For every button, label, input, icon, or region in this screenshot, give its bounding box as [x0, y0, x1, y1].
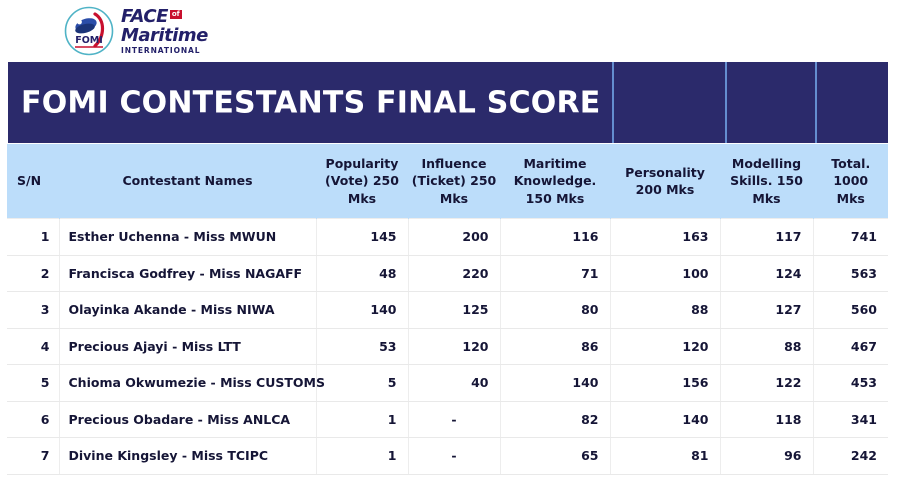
cell-popularity: 53 [316, 328, 408, 365]
cell-total: 560 [813, 292, 888, 329]
cell-maritime: 65 [500, 438, 610, 475]
banner-separator-3 [815, 62, 817, 143]
header-line: Mks [317, 190, 408, 207]
header-line: (Vote) 250 [317, 172, 408, 189]
cell-maritime: 86 [500, 328, 610, 365]
cell-total: 242 [813, 438, 888, 475]
cell-popularity: 1 [316, 401, 408, 438]
column-header-influence: Influence (Ticket) 250 Mks [408, 144, 500, 219]
header-line: Maritime [501, 155, 610, 172]
logo-band: FOMI FACE of Maritime INTERNATIONAL [0, 0, 898, 62]
header-line: Influence [409, 155, 500, 172]
cell-name: Divine Kingsley - Miss TCIPC [59, 438, 316, 475]
banner-separator-1 [612, 62, 614, 143]
table-row: 5Chioma Okwumezie - Miss CUSTOMS54014015… [7, 365, 888, 402]
wordmark-maritime: Maritime [121, 27, 208, 45]
cell-influence: 40 [408, 365, 500, 402]
cell-popularity: 145 [316, 219, 408, 256]
cell-maritime: 82 [500, 401, 610, 438]
cell-modelling: 88 [720, 328, 813, 365]
scores-table: S/N Contestant Names Popularity (Vote) 2… [7, 144, 888, 475]
column-header-maritime: Maritime Knowledge. 150 Mks [500, 144, 610, 219]
cell-sn: 6 [7, 401, 59, 438]
cell-total: 467 [813, 328, 888, 365]
header-line: Mks [814, 190, 889, 207]
header-line: Personality [611, 164, 720, 181]
header-line: Total. [814, 155, 889, 172]
cell-popularity: 5 [316, 365, 408, 402]
cell-maritime: 140 [500, 365, 610, 402]
cell-sn: 5 [7, 365, 59, 402]
title-banner: FOMI CONTESTANTS FINAL SCORE [8, 62, 888, 143]
cell-sn: 4 [7, 328, 59, 365]
cell-total: 741 [813, 219, 888, 256]
table-row: 4Precious Ajayi - Miss LTT53120861208846… [7, 328, 888, 365]
table-row: 3Olayinka Akande - Miss NIWA140125808812… [7, 292, 888, 329]
table-row: 6Precious Obadare - Miss ANLCA1-82140118… [7, 401, 888, 438]
header-line: Modelling [721, 155, 813, 172]
cell-name: Esther Uchenna - Miss MWUN [59, 219, 316, 256]
cell-total: 341 [813, 401, 888, 438]
wordmark-international: INTERNATIONAL [121, 47, 208, 55]
cell-maritime: 80 [500, 292, 610, 329]
page-title: FOMI CONTESTANTS FINAL SCORE [21, 85, 600, 120]
header-line: 1000 [814, 172, 889, 189]
column-header-modelling: Modelling Skills. 150 Mks [720, 144, 813, 219]
cell-maritime: 71 [500, 255, 610, 292]
fomi-emblem-icon: FOMI [64, 6, 114, 56]
cell-modelling: 122 [720, 365, 813, 402]
column-header-popularity: Popularity (Vote) 250 Mks [316, 144, 408, 219]
cell-personality: 120 [610, 328, 720, 365]
column-header-sn: S/N [7, 144, 59, 219]
wordmark-of: of [170, 10, 182, 19]
header-line: 200 Mks [611, 181, 720, 198]
banner-separator-2 [725, 62, 727, 143]
header-line: 150 Mks [501, 190, 610, 207]
table-row: 1Esther Uchenna - Miss MWUN1452001161631… [7, 219, 888, 256]
cell-personality: 163 [610, 219, 720, 256]
column-header-name: Contestant Names [59, 144, 316, 219]
header-line: (Ticket) 250 [409, 172, 500, 189]
cell-influence: 220 [408, 255, 500, 292]
cell-popularity: 140 [316, 292, 408, 329]
cell-personality: 81 [610, 438, 720, 475]
cell-maritime: 116 [500, 219, 610, 256]
scoreboard-page: FOMI FACE of Maritime INTERNATIONAL FOMI… [0, 0, 898, 478]
cell-modelling: 118 [720, 401, 813, 438]
cell-influence: - [408, 438, 500, 475]
svg-text:FOMI: FOMI [75, 35, 103, 46]
table-header-row: S/N Contestant Names Popularity (Vote) 2… [7, 144, 888, 219]
cell-sn: 1 [7, 219, 59, 256]
cell-influence: 125 [408, 292, 500, 329]
fomi-wordmark: FACE of Maritime INTERNATIONAL [121, 8, 208, 55]
cell-name: Precious Obadare - Miss ANLCA [59, 401, 316, 438]
header-line: Popularity [317, 155, 408, 172]
cell-name: Olayinka Akande - Miss NIWA [59, 292, 316, 329]
wordmark-face: FACE [121, 8, 168, 26]
cell-personality: 140 [610, 401, 720, 438]
cell-influence: 120 [408, 328, 500, 365]
table-row: 7Divine Kingsley - Miss TCIPC1-658196242 [7, 438, 888, 475]
cell-modelling: 117 [720, 219, 813, 256]
cell-modelling: 124 [720, 255, 813, 292]
scores-table-body: 1Esther Uchenna - Miss MWUN1452001161631… [7, 219, 888, 475]
header-line: Mks [409, 190, 500, 207]
cell-influence: - [408, 401, 500, 438]
cell-popularity: 48 [316, 255, 408, 292]
column-header-total: Total. 1000 Mks [813, 144, 888, 219]
table-row: 2Francisca Godfrey - Miss NAGAFF48220711… [7, 255, 888, 292]
header-line: Mks [721, 190, 813, 207]
fomi-logo: FOMI FACE of Maritime INTERNATIONAL [64, 6, 208, 56]
cell-sn: 2 [7, 255, 59, 292]
header-line: Skills. 150 [721, 172, 813, 189]
cell-total: 563 [813, 255, 888, 292]
cell-name: Francisca Godfrey - Miss NAGAFF [59, 255, 316, 292]
cell-personality: 156 [610, 365, 720, 402]
cell-personality: 100 [610, 255, 720, 292]
cell-sn: 7 [7, 438, 59, 475]
cell-popularity: 1 [316, 438, 408, 475]
header-line: Knowledge. [501, 172, 610, 189]
cell-modelling: 127 [720, 292, 813, 329]
cell-influence: 200 [408, 219, 500, 256]
cell-total: 453 [813, 365, 888, 402]
cell-personality: 88 [610, 292, 720, 329]
column-header-personality: Personality 200 Mks [610, 144, 720, 219]
cell-modelling: 96 [720, 438, 813, 475]
cell-name: Precious Ajayi - Miss LTT [59, 328, 316, 365]
cell-name: Chioma Okwumezie - Miss CUSTOMS [59, 365, 316, 402]
cell-sn: 3 [7, 292, 59, 329]
